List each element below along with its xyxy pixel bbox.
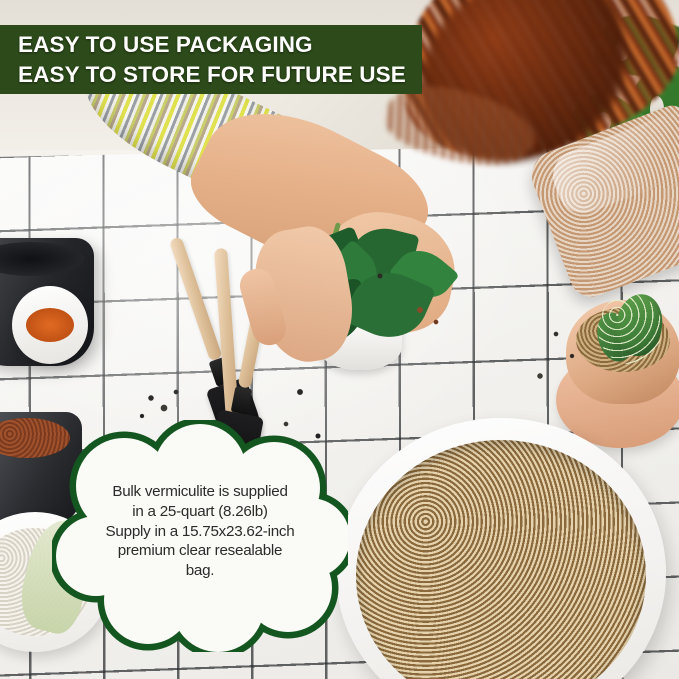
product-image: EASY TO USE PACKAGING EASY TO STORE FOR … [0,0,679,679]
callout-line-3: Supply in a 15.75x23.62-inch [76,522,324,542]
trowel-ferrule [231,386,253,415]
callout-line-5: bag. [76,561,324,581]
callout-line-1: Bulk vermiculite is supplied [76,482,324,502]
headline-line-1: EASY TO USE PACKAGING [18,30,422,60]
terracotta-powder-dish [12,286,88,364]
cloud-callout-text: Bulk vermiculite is supplied in a 25-qua… [76,482,324,581]
callout-line-2: in a 25-quart (8.26lb) [76,502,324,522]
callout-line-4: premium clear resealable [76,541,324,561]
cloud-callout: Bulk vermiculite is supplied in a 25-qua… [52,420,348,652]
headline-banner: EASY TO USE PACKAGING EASY TO STORE FOR … [0,25,422,94]
headline-line-2: EASY TO STORE FOR FUTURE USE [18,60,422,90]
